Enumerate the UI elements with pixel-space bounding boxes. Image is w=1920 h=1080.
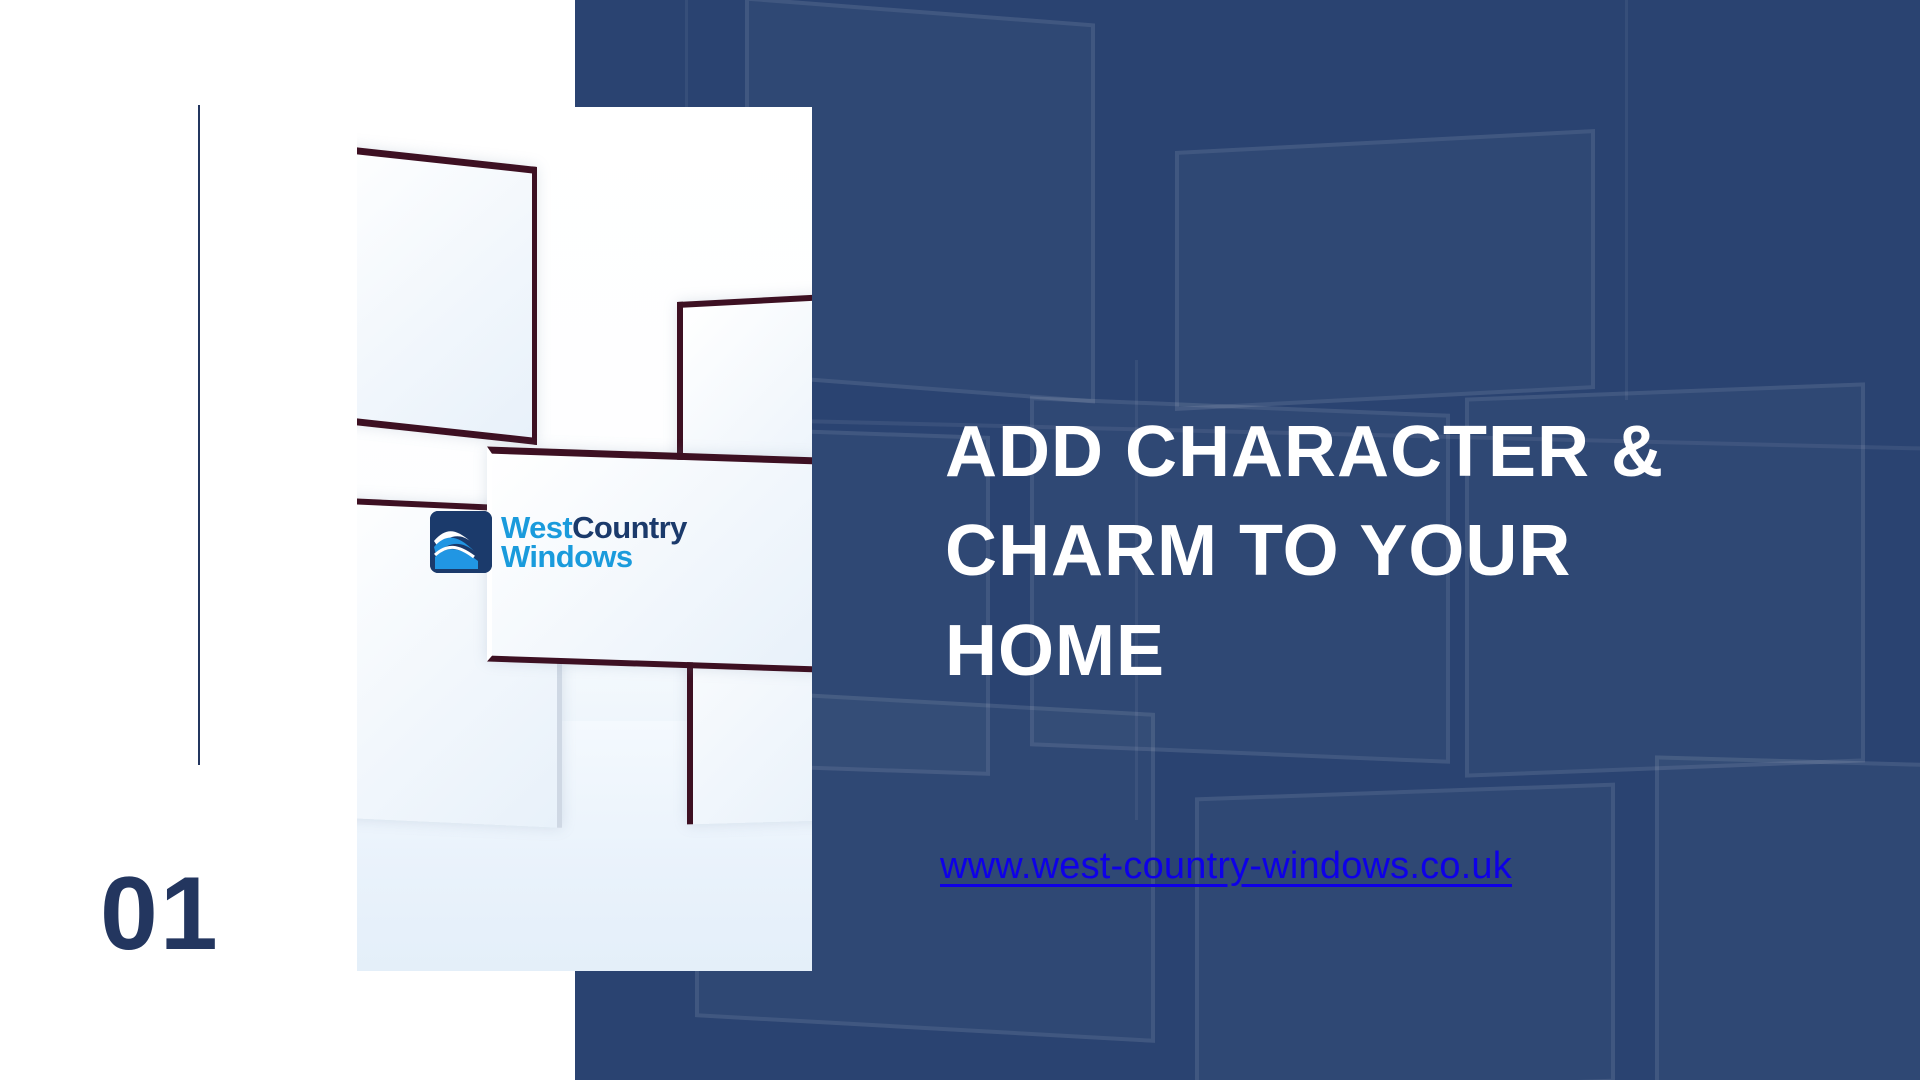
slide-number: 01 (100, 862, 220, 966)
vertical-accent-rule (198, 105, 200, 765)
photo-window-frame (357, 143, 537, 445)
logo-line-one: WestCountry (501, 513, 687, 542)
navy-window-shape (1175, 129, 1595, 411)
website-link[interactable]: www.west-country-windows.co.uk (940, 845, 1512, 888)
logo-word-windows: Windows (501, 542, 687, 571)
navy-vertical-line (1625, 0, 1628, 400)
navy-window-shape (1655, 755, 1920, 1080)
slide-root: 01 WestCountry Windows ADD CHARACTER & C… (0, 0, 1920, 1080)
logo-mark-icon (430, 511, 492, 573)
logo-wordmark: WestCountry Windows (501, 513, 687, 571)
navy-window-shape (1195, 783, 1615, 1080)
west-country-windows-logo: WestCountry Windows (430, 511, 687, 573)
page-title: ADD CHARACTER & CHARM TO YOUR HOME (945, 403, 1685, 701)
